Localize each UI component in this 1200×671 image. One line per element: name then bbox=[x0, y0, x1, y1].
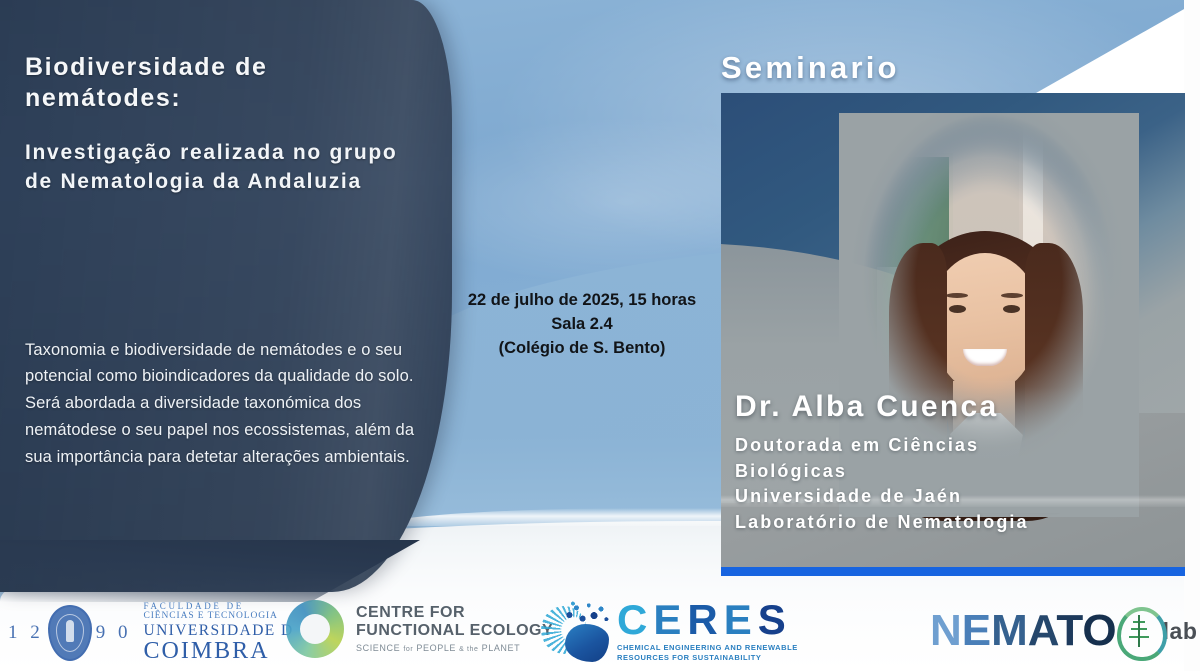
speaker-details: Dr. Alba Cuenca Doutorada em Ciências Bi… bbox=[735, 390, 1185, 535]
event-details: 22 de julho de 2025, 15 horas Sala 2.4 (… bbox=[432, 289, 732, 360]
nemato-letters: NEMATO bbox=[930, 609, 1117, 653]
cfe-line-1: CENTRE FOR bbox=[356, 604, 553, 622]
event-date-time: 22 de julho de 2025, 15 horas bbox=[432, 289, 732, 313]
nemato-letter-2: E bbox=[962, 606, 991, 655]
logo-strip: 1 2 9 0 FACULDADE DE CIÊNCIAS E TECNOLOG… bbox=[0, 585, 1200, 671]
coimbra-year-right: 9 0 bbox=[96, 622, 132, 644]
nemato-letter-1: N bbox=[930, 606, 962, 655]
accent-bar bbox=[721, 567, 1185, 576]
cfe-tagline-people: PEOPLE bbox=[416, 643, 456, 653]
poster-title: Biodiversidade de nemátodes: bbox=[25, 52, 425, 113]
speaker-credential-4: Laboratório de Nematologia bbox=[735, 510, 1185, 536]
cfe-wordmark: CENTRE FOR FUNCTIONAL ECOLOGY SCIENCE fo… bbox=[356, 604, 553, 655]
ceres-letter-5: S bbox=[758, 596, 792, 643]
ceres-letter-3: R bbox=[687, 596, 723, 643]
ceres-letter-1: C bbox=[617, 596, 653, 643]
coimbra-line-4: COIMBRA bbox=[144, 639, 294, 663]
abstract-text: Taxonomia e biodiversidade de nemátodes … bbox=[25, 337, 425, 471]
cfe-tagline: SCIENCE for PEOPLE & the PLANET bbox=[356, 643, 553, 654]
ceres-wordmark: CERES CHEMICAL ENGINEERING AND RENEWABLE… bbox=[617, 600, 798, 664]
logo-nematolab: NEMATO lab bbox=[930, 603, 1197, 659]
ceres-emblem-icon bbox=[541, 600, 611, 664]
cfe-tagline-planet: PLANET bbox=[482, 643, 521, 653]
nemato-letter-4: A bbox=[1028, 606, 1057, 655]
seminar-kicker: Seminario bbox=[721, 50, 900, 86]
nemato-plant-bulb-icon bbox=[1113, 603, 1165, 659]
ceres-letter-4: E bbox=[724, 596, 758, 643]
logo-universidade-coimbra: 1 2 9 0 FACULDADE DE CIÊNCIAS E TECNOLOG… bbox=[8, 602, 294, 663]
cfe-tagline-for: for bbox=[403, 646, 413, 653]
speaker-name: Dr. Alba Cuenca bbox=[735, 390, 1185, 423]
coimbra-seal-icon bbox=[48, 605, 92, 661]
ceres-tagline-line-2: RESOURCES FOR SUSTAINABILITY bbox=[617, 653, 798, 664]
event-venue: (Colégio de S. Bento) bbox=[432, 337, 732, 361]
coimbra-line-3: UNIVERSIDADE D bbox=[144, 623, 294, 639]
coimbra-wordmark: FACULDADE DE CIÊNCIAS E TECNOLOGIA UNIVE… bbox=[144, 602, 294, 663]
nemato-tree-icon bbox=[1129, 615, 1149, 647]
cfe-tagline-science: SCIENCE bbox=[356, 643, 400, 653]
nemato-letter-3: M bbox=[991, 606, 1028, 655]
poster-subtitle: Investigação realizada no grupo de Nemat… bbox=[25, 139, 425, 196]
ceres-blob-icon bbox=[565, 624, 609, 662]
ceres-tagline: CHEMICAL ENGINEERING AND RENEWABLE RESOU… bbox=[617, 643, 798, 664]
nemato-letter-5: T bbox=[1056, 606, 1082, 655]
coimbra-line-2: CIÊNCIAS E TECNOLOGIA bbox=[144, 612, 294, 622]
ceres-letter-2: E bbox=[653, 596, 687, 643]
event-room: Sala 2.4 bbox=[432, 313, 732, 337]
coimbra-year-left: 1 2 bbox=[8, 622, 44, 644]
nemato-suffix: lab bbox=[1163, 618, 1198, 645]
ceres-letters: CERES bbox=[617, 600, 798, 640]
background-right-margin bbox=[1184, 0, 1200, 671]
cfe-line-2: FUNCTIONAL ECOLOGY bbox=[356, 622, 553, 640]
speaker-credential-1: Doutorada em Ciências bbox=[735, 433, 1185, 459]
title-block: Biodiversidade de nemátodes: Investigaçã… bbox=[25, 52, 425, 196]
speaker-credential-2: Biológicas bbox=[735, 459, 1185, 485]
ceres-tagline-line-1: CHEMICAL ENGINEERING AND RENEWABLE bbox=[617, 643, 798, 654]
logo-centre-functional-ecology: CENTRE FOR FUNCTIONAL ECOLOGY SCIENCE fo… bbox=[286, 600, 553, 658]
cfe-tagline-andthe: & the bbox=[459, 646, 478, 653]
nemato-letter-6: O bbox=[1082, 606, 1116, 655]
cfe-ring-icon bbox=[286, 600, 344, 658]
logo-ceres: CERES CHEMICAL ENGINEERING AND RENEWABLE… bbox=[541, 600, 798, 664]
seminar-poster: Biodiversidade de nemátodes: Investigaçã… bbox=[0, 0, 1200, 671]
speaker-credential-3: Universidade de Jaén bbox=[735, 484, 1185, 510]
